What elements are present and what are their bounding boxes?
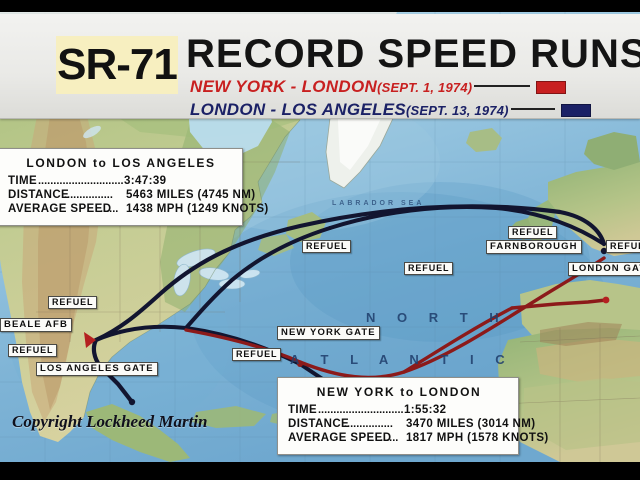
legend-leader-line-1 bbox=[474, 85, 530, 87]
legend-leader-line-2 bbox=[511, 108, 555, 110]
legend-item-new-york-london: NEW YORK - LONDON (SEPT. 1, 1974) bbox=[190, 77, 566, 97]
legend-color-swatch-red bbox=[536, 81, 566, 94]
info-row-time: TIME .............................. 3:47… bbox=[8, 175, 234, 187]
page-title: RECORD SPEED RUNS bbox=[186, 34, 640, 74]
label-london-gate: LONDON GATE bbox=[568, 262, 640, 276]
label-refuel-uk-north: REFUEL bbox=[508, 226, 557, 239]
ocean-label-atlantic: A T L A N T I C bbox=[290, 352, 514, 367]
info-dots-average-speed: ...... bbox=[100, 203, 126, 215]
label-los-angeles-gate: LOS ANGELES GATE bbox=[36, 362, 158, 376]
sr71-badge-label: SR-71 bbox=[57, 43, 177, 87]
sr71-badge: SR-71 bbox=[56, 36, 178, 94]
info-value-time: 3:47:39 bbox=[124, 175, 166, 187]
screenshot-root: N O R T H A T L A N T I C LABRADOR SEA R… bbox=[0, 0, 640, 480]
label-refuel-uk-east: REFUEL bbox=[606, 240, 640, 253]
info-row-distance: DISTANCE ................ 5463 MILES (47… bbox=[8, 189, 234, 201]
label-refuel-canada: REFUEL bbox=[302, 240, 351, 253]
info-label-average-speed: AVERAGE SPEED bbox=[8, 203, 100, 215]
info-label-average-speed: AVERAGE SPEED bbox=[288, 432, 380, 444]
info-dots-distance: ................ bbox=[344, 418, 406, 430]
ocean-label-north: N O R T H bbox=[366, 310, 508, 325]
ocean-label-labrador-sea: LABRADOR SEA bbox=[332, 200, 424, 207]
los-angeles-gate-marker bbox=[129, 399, 135, 405]
info-value-distance: 5463 MILES (4745 NM) bbox=[126, 189, 255, 201]
info-label-time: TIME bbox=[288, 404, 318, 416]
info-label-time: TIME bbox=[8, 175, 38, 187]
label-refuel-beale-south: REFUEL bbox=[8, 344, 57, 357]
title-panel: SR-71 RECORD SPEED RUNS NEW YORK - LONDO… bbox=[0, 14, 640, 119]
label-refuel-beale-north: REFUEL bbox=[48, 296, 97, 309]
legend-color-swatch-navy bbox=[561, 104, 591, 117]
info-value-average-speed: 1817 MPH (1578 KNOTS) bbox=[406, 432, 549, 444]
info-row-average-speed: AVERAGE SPEED ...... 1438 MPH (1249 KNOT… bbox=[8, 203, 234, 215]
info-dots-time: .............................. bbox=[38, 175, 124, 187]
info-dots-time: .............................. bbox=[318, 404, 404, 416]
legend-date-label-1: (SEPT. 1, 1974) bbox=[377, 80, 472, 95]
copyright-notice: Copyright Lockheed Martin bbox=[12, 412, 208, 432]
label-beale-afb: BEALE AFB bbox=[0, 318, 72, 332]
label-farnborough: FARNBOROUGH bbox=[486, 240, 582, 254]
info-label-distance: DISTANCE bbox=[288, 418, 344, 430]
info-value-time: 1:55:32 bbox=[404, 404, 446, 416]
info-row-time: TIME .............................. 1:55… bbox=[288, 404, 510, 416]
info-title-new-york-to-london: NEW YORK to LONDON bbox=[288, 385, 510, 399]
info-box-london-to-los-angeles: LONDON to LOS ANGELES TIME .............… bbox=[0, 148, 243, 226]
info-box-new-york-to-london: NEW YORK to LONDON TIME ................… bbox=[277, 377, 519, 455]
legend-route-label-1: NEW YORK - LONDON bbox=[190, 77, 377, 97]
label-refuel-midwest: REFUEL bbox=[232, 348, 281, 361]
info-value-distance: 3470 MILES (3014 NM) bbox=[406, 418, 535, 430]
label-refuel-atlantic: REFUEL bbox=[404, 262, 453, 275]
legend-route-label-2: LONDON - LOS ANGELES bbox=[190, 100, 406, 120]
info-row-average-speed: AVERAGE SPEED ...... 1817 MPH (1578 KNOT… bbox=[288, 432, 510, 444]
info-row-distance: DISTANCE ................ 3470 MILES (30… bbox=[288, 418, 510, 430]
info-title-london-to-los-angeles: LONDON to LOS ANGELES bbox=[8, 156, 234, 170]
info-value-average-speed: 1438 MPH (1249 KNOTS) bbox=[126, 203, 269, 215]
info-dots-distance: ................ bbox=[64, 189, 126, 201]
label-new-york-gate: NEW YORK GATE bbox=[277, 326, 380, 340]
legend-date-label-2: (SEPT. 13, 1974) bbox=[406, 103, 509, 118]
legend-item-london-los-angeles: LONDON - LOS ANGELES (SEPT. 13, 1974) bbox=[190, 100, 591, 120]
info-label-distance: DISTANCE bbox=[8, 189, 64, 201]
london-gate-marker bbox=[603, 297, 610, 304]
info-dots-average-speed: ...... bbox=[380, 432, 406, 444]
